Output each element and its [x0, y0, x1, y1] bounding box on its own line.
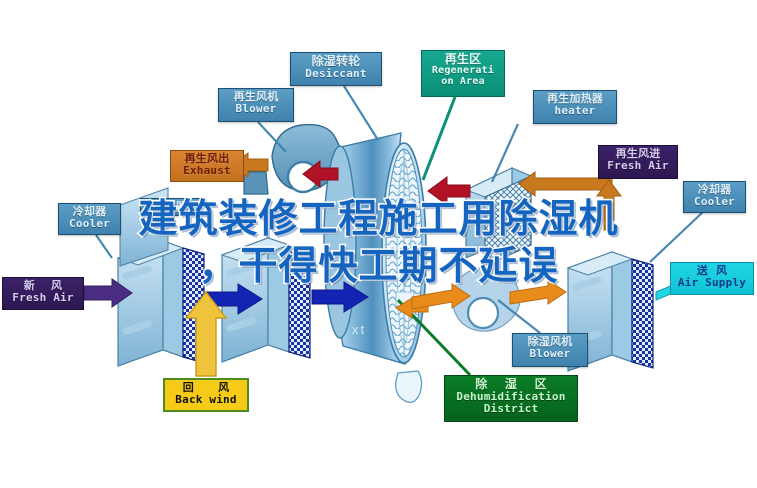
label-dehumidification-district: 除 湿 区Dehumidification District	[444, 375, 578, 422]
dehumidifier-diagram: xt 除湿转轮Desiccant再生风机Blower再生区Regenerati …	[0, 0, 757, 488]
label-cooler-left-1: 冷却器Cooler	[58, 203, 121, 235]
label-fresh-air-in: 新 风Fresh Air	[2, 277, 84, 310]
label-dehumid-blower-en: Blower	[516, 348, 584, 360]
label-regen-heater-en: heater	[537, 105, 613, 117]
label-cooler-right: 冷却器Cooler	[683, 181, 746, 213]
label-air-supply: 送 风Air Supply	[670, 262, 754, 295]
label-fresh-air-in-en: Fresh Air	[6, 292, 80, 304]
arrow-dry-air-2	[510, 280, 566, 304]
label-cooler-left-1-en: Cooler	[62, 218, 117, 230]
label-regen-fresh-air-in: 再生风进Fresh Air	[598, 145, 678, 179]
label-dehumidification-district-en: Dehumidification District	[448, 391, 574, 415]
watermark: xt	[352, 322, 366, 337]
label-air-supply-en: Air Supply	[674, 277, 750, 289]
label-dehumid-blower: 除湿风机Blower	[512, 333, 588, 367]
leader-line-regeneration	[423, 97, 455, 180]
arrow-regen-hot-right	[428, 177, 470, 205]
label-regen-heater: 再生加热器heater	[533, 90, 617, 124]
label-regen-blower-en: Blower	[222, 103, 290, 115]
label-regen-blower: 再生风机Blower	[218, 88, 294, 122]
label-regeneration-area-cn: 再生区	[425, 53, 501, 66]
label-regeneration-area: 再生区Regenerati on Area	[421, 50, 505, 97]
label-cooler-right-en: Cooler	[687, 196, 742, 208]
desiccant-rotor	[324, 133, 426, 402]
label-desiccant-wheel-en: Desiccant	[294, 68, 378, 80]
label-back-wind-en: Back wind	[168, 394, 244, 406]
label-regen-fresh-air-in-en: Fresh Air	[602, 160, 674, 172]
label-exhaust-en: Exhaust	[174, 165, 240, 177]
label-dehumidification-district-cn: 除 湿 区	[448, 378, 574, 391]
label-exhaust: 再生风出Exhaust	[170, 150, 244, 182]
label-back-wind: 回 风Back wind	[163, 378, 249, 412]
label-desiccant-wheel: 除湿转轮Desiccant	[290, 52, 382, 86]
label-cooler-left-2: 冷却器	[140, 198, 200, 216]
label-regeneration-area-en: Regenerati on Area	[425, 66, 501, 88]
label-cooler-left-2-cn: 冷却器	[144, 201, 196, 213]
label-desiccant-wheel-cn: 除湿转轮	[294, 55, 378, 68]
